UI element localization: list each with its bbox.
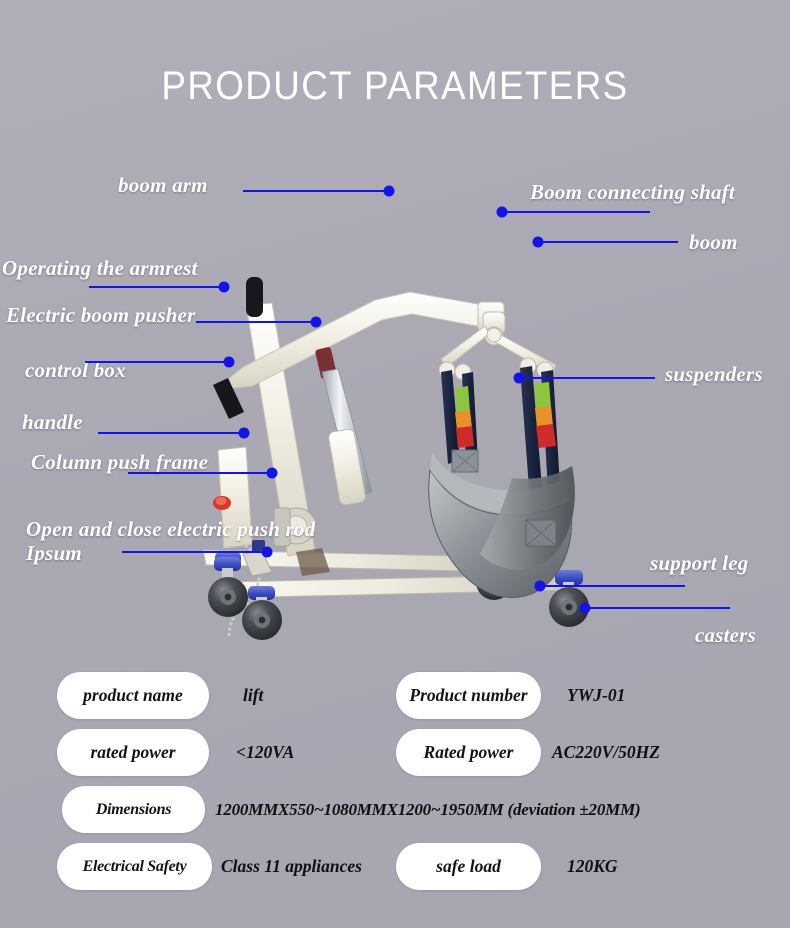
callout-boom-arm: boom arm: [118, 174, 208, 198]
leader-dot-casters: [580, 603, 591, 614]
callout-handle: handle: [22, 411, 83, 435]
electric-boom-pusher: [315, 347, 372, 506]
leader-boom: [538, 241, 678, 243]
product-parameters-page: PRODUCT PARAMETERS: [0, 0, 790, 928]
leader-dot-electric-boom-pusher: [311, 317, 322, 328]
leader-casters: [585, 607, 730, 609]
spec-value-product-name: lift: [243, 672, 263, 719]
operating-armrest: [213, 277, 244, 419]
leader-operating-the-armrest: [89, 286, 222, 288]
leader-open-close-push-rod: [122, 551, 265, 553]
leader-dot-handle: [239, 428, 250, 439]
leader-suspenders: [520, 377, 655, 379]
callout-boom: boom: [689, 231, 738, 255]
leader-dot-control-box: [224, 357, 235, 368]
callout-operating-the-armrest: Operating the armrest: [2, 257, 198, 281]
spec-value-safe-load: 120KG: [567, 843, 618, 890]
callout-support-leg: support leg: [650, 552, 748, 576]
callout-casters: casters: [695, 624, 756, 648]
spec-label-product-number: Product number: [396, 672, 541, 719]
specification-table: product name lift Product number YWJ-01 …: [0, 663, 790, 913]
leader-boom-connecting-shaft: [500, 211, 650, 213]
leader-column-push-frame: [128, 472, 271, 474]
callout-suspenders: suspenders: [665, 363, 763, 387]
leader-dot-suspenders: [514, 373, 525, 384]
spec-label-safe-load: safe load: [396, 843, 541, 890]
spec-label-rated-power-ac: Rated power: [396, 729, 541, 776]
handle-grip: [246, 277, 263, 317]
spec-value-rated-power-ac: AC220V/50HZ: [552, 729, 660, 776]
leader-dot-boom-connecting-shaft: [497, 207, 508, 218]
leader-support-leg: [540, 585, 685, 587]
page-title: PRODUCT PARAMETERS: [32, 66, 759, 106]
spec-value-dimensions: 1200MMX550~1080MMX1200~1950MM (deviation…: [215, 786, 640, 833]
callout-open-close-push-rod: Open and close electric push rod Ipsum: [26, 518, 315, 565]
leader-boom-arm: [243, 190, 388, 192]
spec-label-product-name: product name: [57, 672, 209, 719]
caster-front-right: [549, 570, 589, 627]
leader-electric-boom-pusher: [196, 321, 315, 323]
leader-dot-operating-the-armrest: [219, 282, 230, 293]
leader-dot-open-close-push-rod: [262, 547, 273, 558]
leader-dot-boom-arm: [384, 186, 395, 197]
spec-value-product-number: YWJ-01: [567, 672, 625, 719]
leader-control-box: [85, 361, 228, 363]
callout-electric-boom-pusher: Electric boom pusher: [6, 304, 196, 328]
leader-dot-support-leg: [535, 581, 546, 592]
leader-handle: [98, 432, 243, 434]
leader-dot-column-push-frame: [267, 468, 278, 479]
spec-value-rated-power-va: <120VA: [236, 729, 294, 776]
spec-value-electrical-safety: Class 11 appliances: [221, 843, 362, 890]
leader-dot-boom: [533, 237, 544, 248]
spec-label-electrical-safety: Electrical Safety: [57, 843, 212, 890]
spec-label-dimensions: Dimensions: [62, 786, 205, 833]
spec-label-rated-power-va: rated power: [57, 729, 209, 776]
callout-boom-connecting-shaft: Boom connecting shaft: [530, 181, 735, 205]
